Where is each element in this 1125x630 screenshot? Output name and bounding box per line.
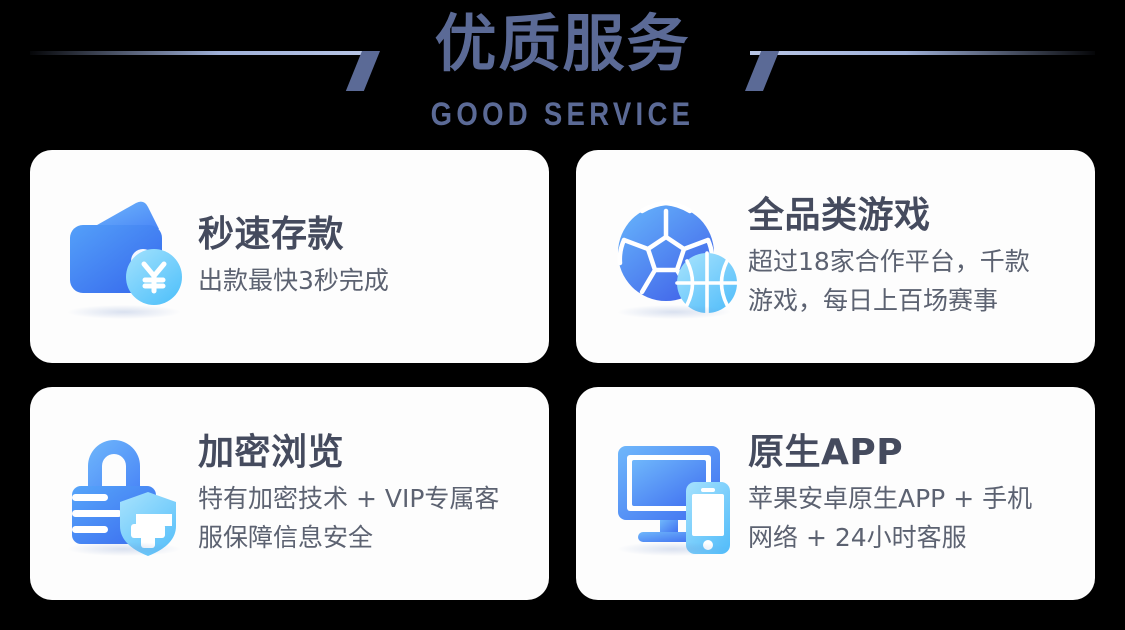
soccer-basketball-icon [608, 191, 744, 323]
feature-card-native-app[interactable]: 原生APP 苹果安卓原生APP + 手机网络 + 24小时客服 [576, 387, 1095, 600]
card-subtitle: 苹果安卓原生APP + 手机网络 + 24小时客服 [748, 479, 1077, 557]
promo-banner: 优质服务 GOOD SERVICE [0, 0, 1125, 630]
card-title: 原生APP [748, 431, 1077, 475]
feature-card-games[interactable]: 全品类游戏 超过18家合作平台，千款游戏，每日上百场赛事 [576, 150, 1095, 363]
page-subtitle: GOOD SERVICE [79, 96, 1047, 132]
card-title: 加密浏览 [198, 431, 531, 475]
icon-shadow [618, 305, 730, 319]
icon-shadow [618, 542, 730, 556]
card-title: 全品类游戏 [748, 194, 1077, 238]
padlock-shield-icon [58, 428, 194, 560]
card-text-block: 原生APP 苹果安卓原生APP + 手机网络 + 24小时客服 [744, 431, 1077, 557]
card-subtitle: 超过18家合作平台，千款游戏，每日上百场赛事 [748, 242, 1077, 320]
page-title: 优质服务 [0, 6, 1125, 82]
card-text-block: 秒速存款 出款最快3秒完成 [194, 213, 531, 300]
monitor-phone-icon [608, 428, 744, 560]
wallet-yen-icon [58, 191, 194, 323]
card-title: 秒速存款 [198, 213, 531, 257]
card-text-block: 加密浏览 特有加密技术 + VIP专属客服保障信息安全 [194, 431, 531, 557]
feature-card-deposit[interactable]: 秒速存款 出款最快3秒完成 [30, 150, 549, 363]
feature-card-encryption[interactable]: 加密浏览 特有加密技术 + VIP专属客服保障信息安全 [30, 387, 549, 600]
card-subtitle: 特有加密技术 + VIP专属客服保障信息安全 [198, 479, 531, 557]
feature-card-grid: 秒速存款 出款最快3秒完成 [30, 150, 1095, 600]
header: 优质服务 GOOD SERVICE [0, 0, 1125, 150]
icon-shadow [68, 305, 180, 319]
card-subtitle: 出款最快3秒完成 [198, 261, 531, 300]
card-text-block: 全品类游戏 超过18家合作平台，千款游戏，每日上百场赛事 [744, 194, 1077, 320]
icon-shadow [68, 542, 180, 556]
